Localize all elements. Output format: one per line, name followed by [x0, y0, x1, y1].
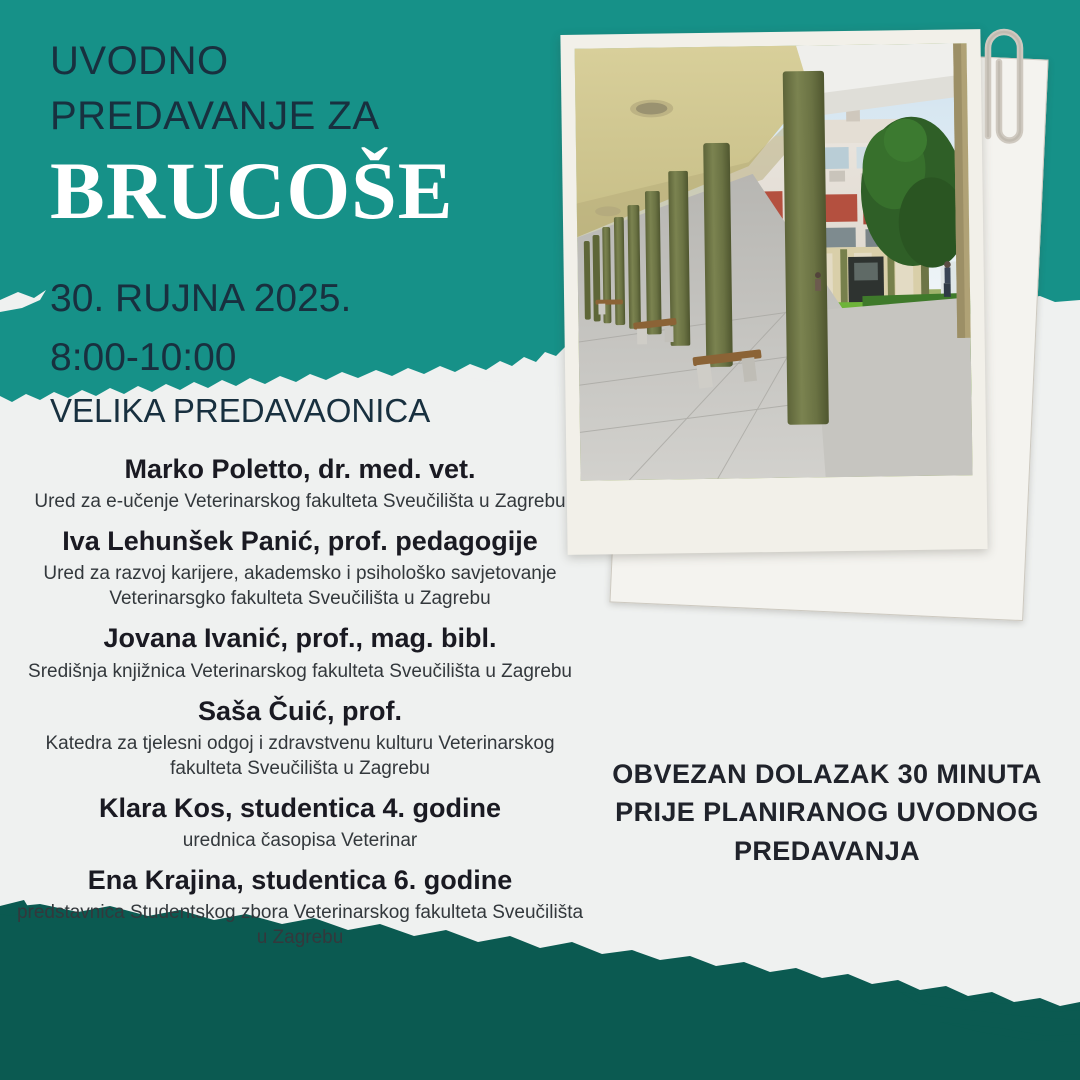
list-item: Klara Kos, studentica 4. godine urednica… — [0, 791, 600, 853]
photo-card-stack — [540, 0, 1080, 660]
speakers-list: Marko Poletto, dr. med. vet. Ured za e-u… — [0, 452, 600, 960]
headline-line-2: PREDAVANJE ZA — [50, 89, 570, 144]
event-details-block: 30. RUJNA 2025. 8:00-10:00 VELIKA PREDAV… — [50, 270, 570, 435]
list-item: Ena Krajina, studentica 6. godine predst… — [0, 863, 600, 950]
speaker-role: urednica časopisa Veterinar — [0, 828, 600, 853]
speaker-name: Ena Krajina, studentica 6. godine — [0, 863, 600, 898]
event-time: 8:00-10:00 — [50, 329, 570, 388]
list-item: Saša Čuić, prof. Katedra za tjelesni odg… — [0, 694, 600, 781]
speaker-name: Marko Poletto, dr. med. vet. — [0, 452, 600, 487]
list-item: Iva Lehunšek Panić, prof. pedagogije Ure… — [0, 524, 600, 611]
speaker-role: Središnja knjižnica Veterinarskog fakult… — [0, 659, 600, 684]
speaker-name: Jovana Ivanić, prof., mag. bibl. — [0, 621, 600, 656]
list-item: Jovana Ivanić, prof., mag. bibl. Središn… — [0, 621, 600, 683]
speaker-name: Klara Kos, studentica 4. godine — [0, 791, 600, 826]
campus-colonnade-photo — [575, 43, 973, 480]
speaker-name: Saša Čuić, prof. — [0, 694, 600, 729]
paperclip-icon — [970, 18, 1040, 163]
event-room: VELIKA PREDAVAONICA — [50, 387, 570, 435]
speaker-role: predstavnica Studentskog zbora Veterinar… — [0, 900, 600, 950]
event-date: 30. RUJNA 2025. — [50, 270, 570, 329]
speaker-role: Ured za razvoj karijere, akademsko i psi… — [0, 561, 600, 611]
poster-canvas: UVODNO PREDAVANJE ZA BRUCOŠE 30. RUJNA 2… — [0, 0, 1080, 1080]
headline-brucose: BRUCOŠE — [50, 150, 570, 232]
headline-block: UVODNO PREDAVANJE ZA BRUCOŠE — [50, 34, 570, 232]
list-item: Marko Poletto, dr. med. vet. Ured za e-u… — [0, 452, 600, 514]
speaker-role: Katedra za tjelesni odgoj i zdravstvenu … — [0, 731, 600, 781]
attendance-notice: OBVEZAN DOLAZAK 30 MINUTA PRIJE PLANIRAN… — [596, 755, 1058, 870]
polaroid-frame — [560, 29, 987, 555]
headline-line-1: UVODNO — [50, 34, 570, 89]
speaker-role: Ured za e-učenje Veterinarskog fakulteta… — [0, 489, 600, 514]
speaker-name: Iva Lehunšek Panić, prof. pedagogije — [0, 524, 600, 559]
